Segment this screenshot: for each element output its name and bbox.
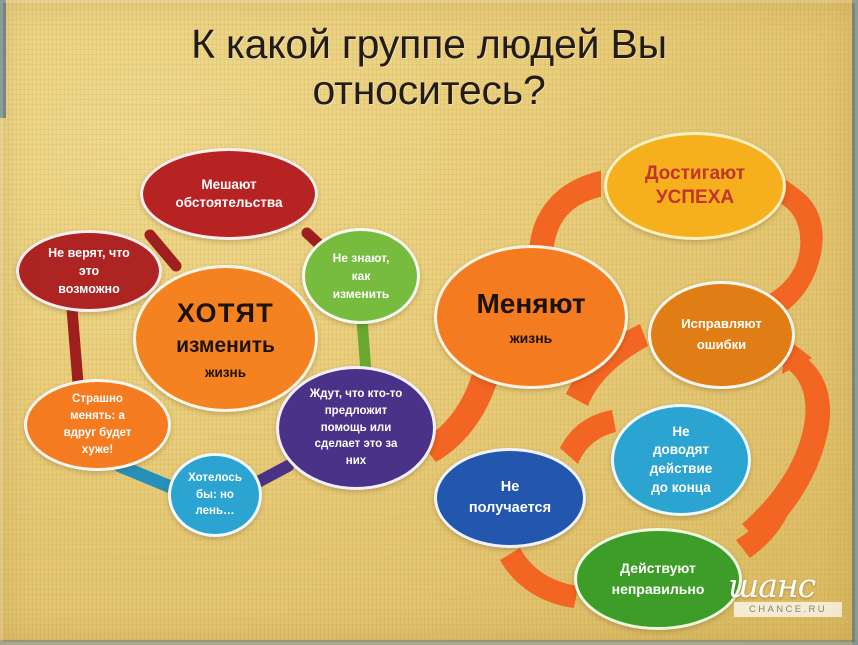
- node-line: Хотелось: [188, 472, 242, 484]
- watermark-domain-text: CHANCE.RU: [734, 602, 842, 617]
- watermark-script-text: шанс: [728, 566, 850, 605]
- node-line: менять: а: [70, 410, 125, 422]
- node-line: неправильно: [612, 581, 705, 597]
- node-line: как: [352, 269, 371, 283]
- node-deystvuyut-nepravilno[interactable]: Действуют неправильно: [574, 528, 742, 630]
- node-line: действие: [650, 461, 713, 476]
- node-line: Действуют: [620, 560, 696, 576]
- node-line: Ждут, что кто-то: [310, 388, 403, 400]
- connector-neveryat-to-strashno: [72, 309, 78, 383]
- node-line: обстоятельства: [175, 195, 282, 210]
- node-line: вдруг будет: [64, 427, 132, 439]
- node-line-secondary: изменить: [144, 334, 307, 358]
- node-line: Не: [672, 424, 689, 439]
- node-line: ошибки: [697, 337, 746, 352]
- arrow-nepoluchaetsya-to-deystvuyut: [500, 548, 578, 608]
- node-line: сделает это за: [315, 438, 398, 450]
- node-strashno-menyat[interactable]: Страшно менять: а вдруг будет хуже!: [24, 379, 171, 471]
- node-line: УСПЕХА: [656, 187, 734, 208]
- arrow-nepoluchaetsya-to-nedovodyat: [560, 410, 616, 464]
- node-ispravlyayut-oshibki[interactable]: Исправляют ошибки: [648, 281, 795, 389]
- node-hotelos-by-no-len[interactable]: Хотелось бы: но лень…: [168, 453, 262, 537]
- node-ne-dovodyat-deystvie-do-kontsa[interactable]: Не доводят действие до конца: [611, 404, 751, 516]
- node-meshayut-obstoyatelstva[interactable]: Мешают обстоятельства: [140, 148, 318, 240]
- node-line: помощь или: [321, 422, 392, 434]
- node-ne-poluchaetsya[interactable]: Не получается: [434, 448, 586, 548]
- node-ne-veryat-chto-eto-vozmozhno[interactable]: Не верят, что это возможно: [16, 230, 162, 312]
- node-line: доводят: [653, 442, 709, 457]
- node-line: хуже!: [82, 444, 113, 456]
- node-line: Не знают,: [333, 251, 390, 265]
- node-line: Исправляют: [681, 316, 761, 331]
- node-line: получается: [469, 500, 551, 516]
- connector-zhdut-to-hotelos: [258, 466, 288, 482]
- node-line-secondary: жизнь: [445, 330, 617, 346]
- watermark: шанс CHANCE.RU: [728, 566, 850, 626]
- node-line: Не верят, что: [48, 246, 130, 260]
- node-line: Страшно: [72, 393, 123, 405]
- node-line-primary: ХОТЯТ: [177, 298, 274, 328]
- node-line: лень…: [195, 505, 234, 517]
- node-line: до конца: [651, 480, 711, 495]
- node-zhdut-chto-kto-to-predlozhit[interactable]: Ждут, что кто-то предложит помощь или сд…: [276, 366, 436, 490]
- connector-neznayut-to-zhdut: [362, 320, 366, 372]
- node-line: бы: но: [196, 489, 234, 501]
- node-line: них: [346, 455, 366, 467]
- node-menyayut-zhizn[interactable]: Меняют жизнь: [434, 245, 628, 389]
- node-line: изменить: [333, 287, 389, 301]
- node-line-primary: Меняют: [476, 288, 585, 319]
- slide-canvas: К какой группе людей Вы относитесь?: [0, 0, 858, 645]
- node-dostigayut-uspeha[interactable]: Достигают УСПЕХА: [604, 132, 786, 240]
- node-line-tertiary: жизнь: [144, 365, 307, 380]
- node-ne-znayut-kak-izmenit[interactable]: Не знают, как изменить: [302, 228, 420, 324]
- node-line: Мешают: [201, 177, 256, 192]
- node-line: возможно: [58, 282, 120, 296]
- node-line: предложит: [325, 405, 388, 417]
- node-line: Не: [501, 479, 520, 495]
- arrow-menyayut-to-dostigayut: [530, 172, 600, 254]
- node-line: это: [79, 264, 99, 278]
- node-line: Достигают: [645, 163, 745, 184]
